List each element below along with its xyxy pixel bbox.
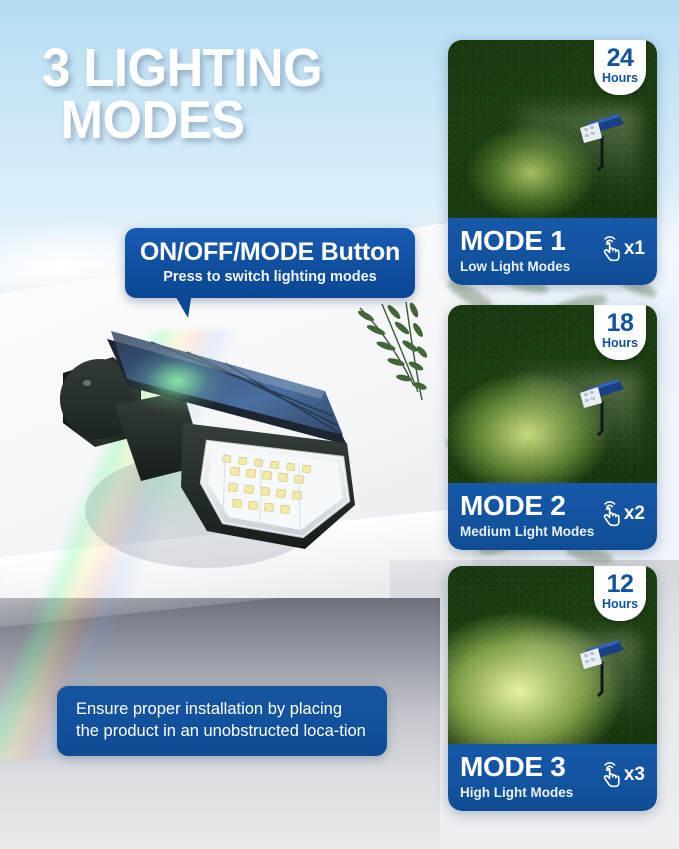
hours-label: Hours xyxy=(594,337,646,351)
tap-count: x2 xyxy=(624,504,645,523)
headline-line-1: 3 LIGHTING xyxy=(42,38,322,98)
infographic-page: 3 LIGHTING MODES ON/OFF/MODE Button Pres… xyxy=(0,0,679,849)
hours-number: 12 xyxy=(594,572,646,597)
mode-title: MODE 3 xyxy=(460,753,573,781)
tap-count: x3 xyxy=(624,765,645,784)
mode-card: 12 Hours MODE 3 High Light Modes x3 xyxy=(448,566,657,811)
mode-subtitle: High Light Modes xyxy=(460,785,573,801)
tap-indicator: x1 xyxy=(598,226,645,262)
tap-hand-icon xyxy=(598,499,622,527)
mode-label-bar: MODE 3 High Light Modes x3 xyxy=(448,744,657,811)
callout-title: ON/OFF/MODE Button xyxy=(139,239,401,266)
hours-badge: 18 Hours xyxy=(594,305,646,360)
solar-spotlight-icon xyxy=(572,628,632,698)
mode-label-bar: MODE 2 Medium Light Modes x2 xyxy=(448,483,657,550)
mode-card: 18 Hours MODE 2 Medium Light Modes x2 xyxy=(448,305,657,550)
tap-indicator: x3 xyxy=(598,752,645,788)
mode-button-callout: ON/OFF/MODE Button Press to switch light… xyxy=(125,228,415,298)
callout-subtitle: Press to switch lighting modes xyxy=(139,269,401,286)
mode-subtitle: Medium Light Modes xyxy=(460,524,594,540)
callout-pointer-tail xyxy=(173,292,192,318)
tap-hand-icon xyxy=(598,234,622,262)
hours-label: Hours xyxy=(594,598,646,612)
mode-subtitle: Low Light Modes xyxy=(460,259,570,275)
hours-label: Hours xyxy=(594,72,646,86)
solar-spotlight-icon xyxy=(572,102,632,172)
mode-card: 24 Hours MODE 1 Low Light Modes x1 xyxy=(448,40,657,285)
mode-photo: 24 Hours xyxy=(448,40,657,230)
tap-indicator: x2 xyxy=(598,491,645,527)
solar-wall-light-product xyxy=(55,295,415,605)
hours-badge: 12 Hours xyxy=(594,566,646,621)
installation-note: Ensure proper installation by placing th… xyxy=(57,686,387,756)
mode-title: MODE 2 xyxy=(460,492,594,520)
hours-number: 24 xyxy=(594,46,646,71)
page-title: 3 LIGHTING MODES xyxy=(42,42,418,147)
tap-count: x1 xyxy=(624,239,645,258)
mode-photo: 18 Hours xyxy=(448,305,657,495)
hours-badge: 24 Hours xyxy=(594,40,646,95)
solar-spotlight-icon xyxy=(572,367,632,437)
hours-number: 18 xyxy=(594,311,646,336)
headline-line-2: MODES xyxy=(61,94,418,146)
mode-photo: 12 Hours xyxy=(448,566,657,756)
mode-label-bar: MODE 1 Low Light Modes x1 xyxy=(448,218,657,285)
tap-hand-icon xyxy=(598,760,622,788)
mode-title: MODE 1 xyxy=(460,227,570,255)
